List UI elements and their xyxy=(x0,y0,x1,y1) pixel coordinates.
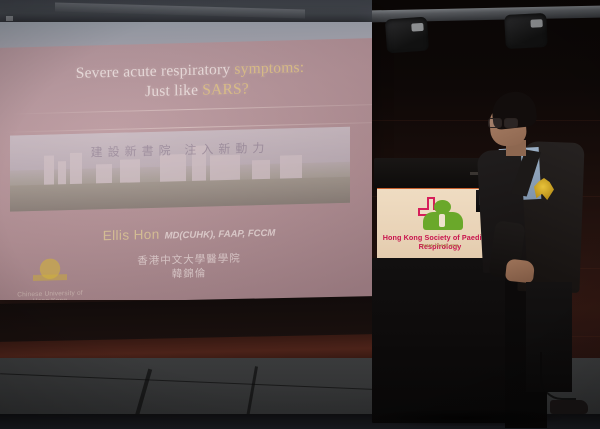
spotlight-lens-icon xyxy=(530,19,542,28)
presenter-name: Ellis Hon xyxy=(103,227,160,243)
child-tie-icon xyxy=(439,214,445,227)
ceiling-light-strip xyxy=(55,3,305,19)
projection-screen: Severe acute respiratory symptoms: Just … xyxy=(0,22,372,300)
hand xyxy=(505,259,535,284)
floor-seam xyxy=(0,373,420,392)
presentation-slide: Severe acute respiratory symptoms: Just … xyxy=(0,38,372,300)
hkspr-logo xyxy=(412,195,468,231)
spotlight-lens-icon xyxy=(411,23,424,32)
spotlight-icon xyxy=(504,13,548,49)
eyeglasses-icon xyxy=(488,118,518,126)
ceiling-fixture-icon xyxy=(6,16,13,21)
speaker-figure xyxy=(478,92,590,332)
presenter-credentials: MD(CUHK), FAAP, FCCM xyxy=(165,228,276,242)
cuhk-crest-icon xyxy=(33,258,67,289)
slide-title-line2: Just like xyxy=(145,82,202,100)
slide-title-line1-highlight: symptoms: xyxy=(234,59,304,78)
photo-scene: Severe acute respiratory symptoms: Just … xyxy=(0,0,600,429)
slide-title-line2-highlight: SARS? xyxy=(202,80,249,98)
podium-shadow xyxy=(366,410,566,426)
child-head-icon xyxy=(434,200,451,214)
spotlight-icon xyxy=(385,17,429,54)
slide-campus-panorama: 建設新書院 注入新動力 xyxy=(10,127,350,212)
slide-title-line1: Severe acute respiratory xyxy=(76,61,235,82)
cuhk-logo: Chinese University of Hong Kong xyxy=(14,258,86,300)
cuhk-logo-caption: Chinese University of Hong Kong xyxy=(14,290,86,300)
shoe xyxy=(550,400,588,414)
floor-cable xyxy=(540,352,576,400)
